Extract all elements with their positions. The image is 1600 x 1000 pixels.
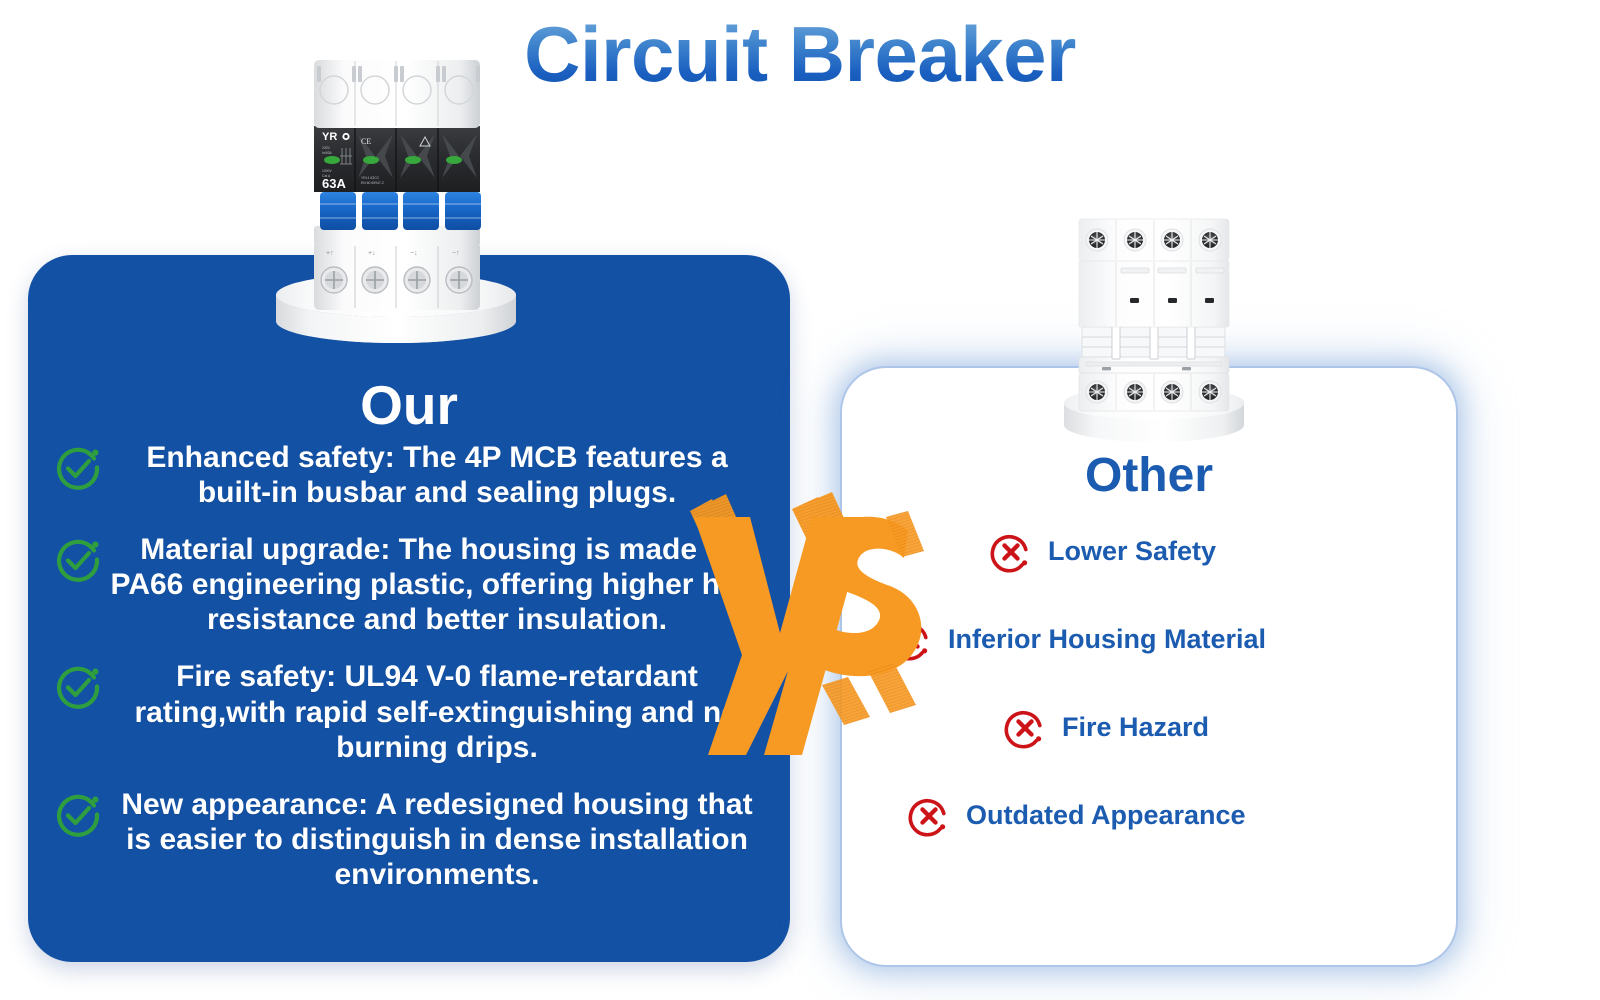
list-item: New appearance: A redesigned housing tha… [52, 787, 768, 892]
ce-mark-label: CE [361, 137, 371, 146]
list-item-label: Fire Hazard [1048, 713, 1209, 743]
breaker-body [1079, 219, 1229, 411]
check-circle-icon [52, 442, 104, 494]
list-item-label: Inferior Housing Material [934, 625, 1266, 655]
svg-text:In/63A: In/63A [322, 151, 333, 155]
x-circle-icon [888, 617, 934, 663]
list-item: Outdated Appearance [870, 772, 1440, 860]
list-item-label: Material upgrade: The housing is made of… [104, 532, 768, 637]
product-rating-label: 63A [322, 176, 346, 191]
svg-text:230V: 230V [322, 146, 331, 150]
circuit-breaker-4p-blue-icon: +↑+↓ −↓−↑ [262, 52, 530, 362]
svg-text:YRL1 63CC: YRL1 63CC [361, 176, 380, 180]
check-circle-icon [52, 534, 104, 586]
svg-text:+↑: +↑ [326, 250, 334, 257]
our-feature-list: Enhanced safety: The 4P MCB features a b… [52, 440, 768, 892]
list-item: Lower Safety [870, 508, 1440, 596]
product-brand-label: YR [322, 131, 337, 143]
toggle-switches [1082, 325, 1225, 359]
other-heading: Other [842, 452, 1456, 500]
circuit-breaker-4p-white-icon [1040, 205, 1268, 450]
other-drawback-list: Lower Safety Inferior Housing Material F… [870, 508, 1440, 860]
our-heading: Our [28, 378, 790, 433]
list-item-label: Enhanced safety: The 4P MCB features a b… [104, 440, 768, 510]
svg-text:−↓: −↓ [410, 250, 418, 257]
svg-text:Cat A: Cat A [322, 174, 331, 178]
svg-text:1000V: 1000V [322, 169, 333, 173]
list-item-label: New appearance: A redesigned housing tha… [104, 787, 768, 892]
list-item-label: Outdated Appearance [952, 801, 1246, 831]
x-circle-icon [988, 529, 1034, 575]
list-item: Enhanced safety: The 4P MCB features a b… [52, 440, 768, 510]
toggle-switches [320, 192, 481, 230]
list-item: Material upgrade: The housing is made of… [52, 532, 768, 637]
x-circle-icon [1002, 705, 1048, 751]
svg-text:EN 60 60947-2: EN 60 60947-2 [361, 181, 384, 185]
breaker-body: +↑+↓ −↓−↑ [314, 60, 481, 310]
check-circle-icon [52, 789, 104, 841]
list-item-label: Fire safety: UL94 V-0 flame-retardant ra… [104, 659, 768, 764]
x-circle-icon [906, 793, 952, 839]
svg-text:+↓: +↓ [368, 250, 376, 257]
list-item: Fire safety: UL94 V-0 flame-retardant ra… [52, 659, 768, 764]
infographic-canvas: Circuit Breaker [0, 0, 1600, 1000]
breaker-face-panels: YR 63A CE 230VIn/63A 1000VCat A YRL1 63C… [314, 126, 480, 192]
list-item: Inferior Housing Material [870, 596, 1440, 684]
check-circle-icon [52, 661, 104, 713]
list-item: Fire Hazard [870, 684, 1440, 772]
list-item-label: Lower Safety [1034, 537, 1216, 567]
page-title: Circuit Breaker [0, 14, 1600, 96]
svg-text:−↑: −↑ [452, 250, 460, 257]
